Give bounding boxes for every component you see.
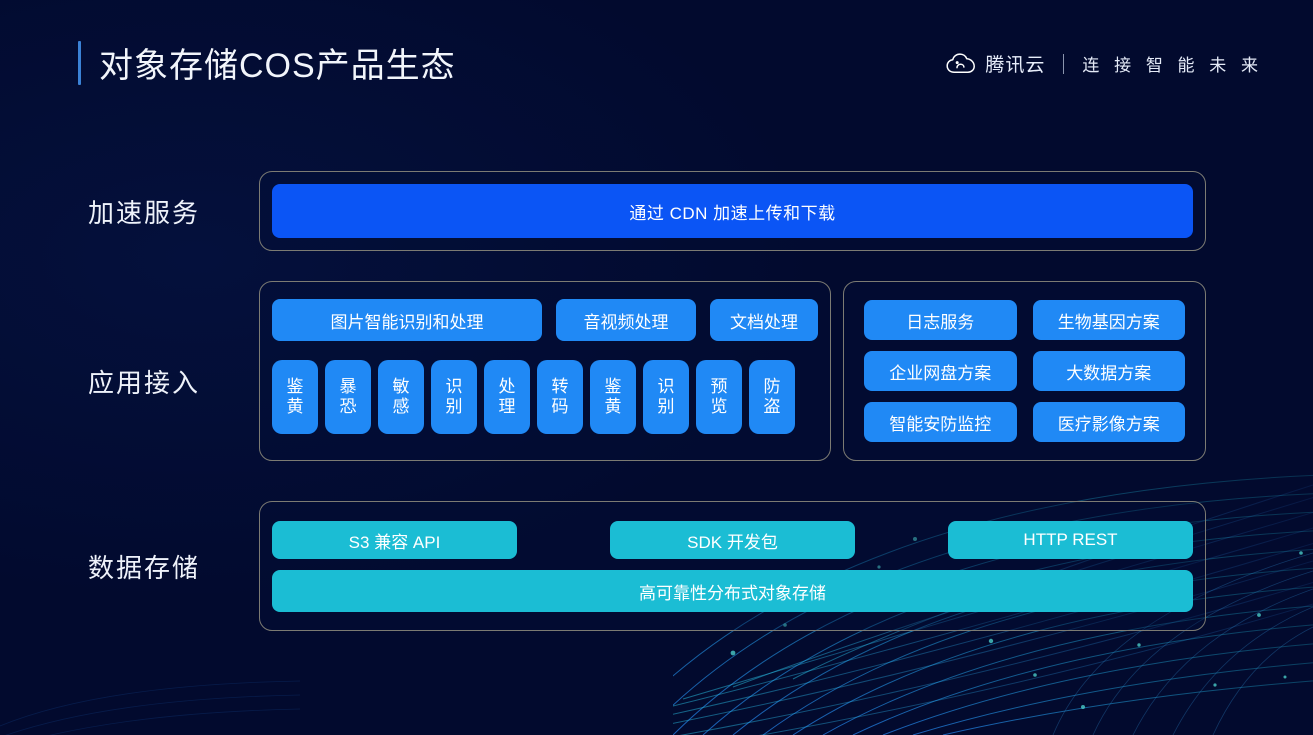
feature-char-2: 理 [499, 397, 516, 417]
brand-tagline: 连 接 智 能 未 来 [1082, 51, 1263, 76]
chip-industry-solution[interactable]: 医疗影像方案 [1033, 402, 1186, 442]
chip-application-feature[interactable]: 识别 [643, 360, 689, 434]
feature-char-2: 盗 [764, 397, 781, 417]
feature-char-1: 暴 [340, 377, 357, 397]
chip-storage-api[interactable]: HTTP REST [948, 521, 1193, 559]
row-label-acceleration: 加速服务 [88, 193, 200, 230]
title-accent-bar [78, 41, 81, 85]
decorative-mesh-graphic-left [0, 615, 300, 735]
page-title: 对象存储COS产品生态 [78, 38, 456, 87]
row-label-storage: 数据存储 [88, 548, 200, 585]
chip-application-feature[interactable]: 识别 [431, 360, 477, 434]
chip-industry-solution[interactable]: 大数据方案 [1033, 351, 1186, 391]
feature-char-1: 识 [658, 377, 675, 397]
solution-grid: 日志服务生物基因方案企业网盘方案大数据方案智能安防监控医疗影像方案 [864, 300, 1185, 442]
chip-application-feature[interactable]: 敏感 [378, 360, 424, 434]
feature-char-2: 码 [552, 397, 569, 417]
chip-application-category[interactable]: 图片智能识别和处理 [272, 299, 542, 341]
feature-char-1: 防 [764, 377, 781, 397]
chip-application-feature[interactable]: 处理 [484, 360, 530, 434]
panel-data-storage: S3 兼容 APISDK 开发包HTTP REST 高可靠性分布式对象存储 [259, 501, 1206, 631]
brand-lockup: 腾讯云 连 接 智 能 未 来 [946, 50, 1263, 77]
feature-char-1: 鉴 [605, 377, 622, 397]
panel-application-services: 图片智能识别和处理音视频处理文档处理 鉴黄暴恐敏感识别处理转码鉴黄识别预览防盗 [259, 281, 831, 461]
chip-storage-api[interactable]: S3 兼容 API [272, 521, 517, 559]
slide-header: 对象存储COS产品生态 腾讯云 连 接 智 能 未 来 [0, 0, 1313, 120]
cloud-icon [946, 53, 976, 75]
chip-application-category[interactable]: 文档处理 [710, 299, 818, 341]
page-title-text: 对象存储COS产品生态 [99, 38, 456, 87]
feature-char-1: 鉴 [287, 377, 304, 397]
feature-char-2: 黄 [287, 397, 304, 417]
chip-application-feature[interactable]: 暴恐 [325, 360, 371, 434]
chip-application-feature[interactable]: 鉴黄 [590, 360, 636, 434]
chip-application-feature[interactable]: 转码 [537, 360, 583, 434]
chip-cdn-acceleration[interactable]: 通过 CDN 加速上传和下载 [272, 184, 1193, 238]
feature-char-1: 敏 [393, 377, 410, 397]
feature-char-1: 转 [552, 377, 569, 397]
chip-storage-api[interactable]: SDK 开发包 [610, 521, 855, 559]
slide-canvas: 对象存储COS产品生态 腾讯云 连 接 智 能 未 来 加速服务 通过 CDN … [0, 0, 1313, 735]
application-category-row: 图片智能识别和处理音视频处理文档处理 [272, 299, 818, 341]
feature-char-1: 识 [446, 377, 463, 397]
feature-char-2: 黄 [605, 397, 622, 417]
feature-char-1: 预 [711, 377, 728, 397]
feature-char-2: 览 [711, 397, 728, 417]
brand-logo: 腾讯云 [946, 50, 1045, 77]
feature-char-2: 别 [446, 397, 463, 417]
panel-acceleration: 通过 CDN 加速上传和下载 [259, 171, 1206, 251]
chip-application-feature[interactable]: 鉴黄 [272, 360, 318, 434]
chip-application-category[interactable]: 音视频处理 [556, 299, 696, 341]
brand-name: 腾讯云 [985, 50, 1045, 77]
feature-char-2: 恐 [340, 397, 357, 417]
feature-char-2: 感 [393, 397, 410, 417]
application-feature-row: 鉴黄暴恐敏感识别处理转码鉴黄识别预览防盗 [272, 360, 818, 434]
feature-char-2: 别 [658, 397, 675, 417]
brand-separator [1063, 54, 1064, 74]
chip-industry-solution[interactable]: 生物基因方案 [1033, 300, 1186, 340]
feature-char-1: 处 [499, 377, 516, 397]
chip-industry-solution[interactable]: 日志服务 [864, 300, 1017, 340]
chip-industry-solution[interactable]: 智能安防监控 [864, 402, 1017, 442]
storage-api-row: S3 兼容 APISDK 开发包HTTP REST [272, 521, 1193, 559]
chip-storage-foundation[interactable]: 高可靠性分布式对象存储 [272, 570, 1193, 612]
row-label-application: 应用接入 [88, 363, 200, 400]
panel-industry-solutions: 日志服务生物基因方案企业网盘方案大数据方案智能安防监控医疗影像方案 [843, 281, 1206, 461]
chip-application-feature[interactable]: 预览 [696, 360, 742, 434]
chip-application-feature[interactable]: 防盗 [749, 360, 795, 434]
chip-industry-solution[interactable]: 企业网盘方案 [864, 351, 1017, 391]
